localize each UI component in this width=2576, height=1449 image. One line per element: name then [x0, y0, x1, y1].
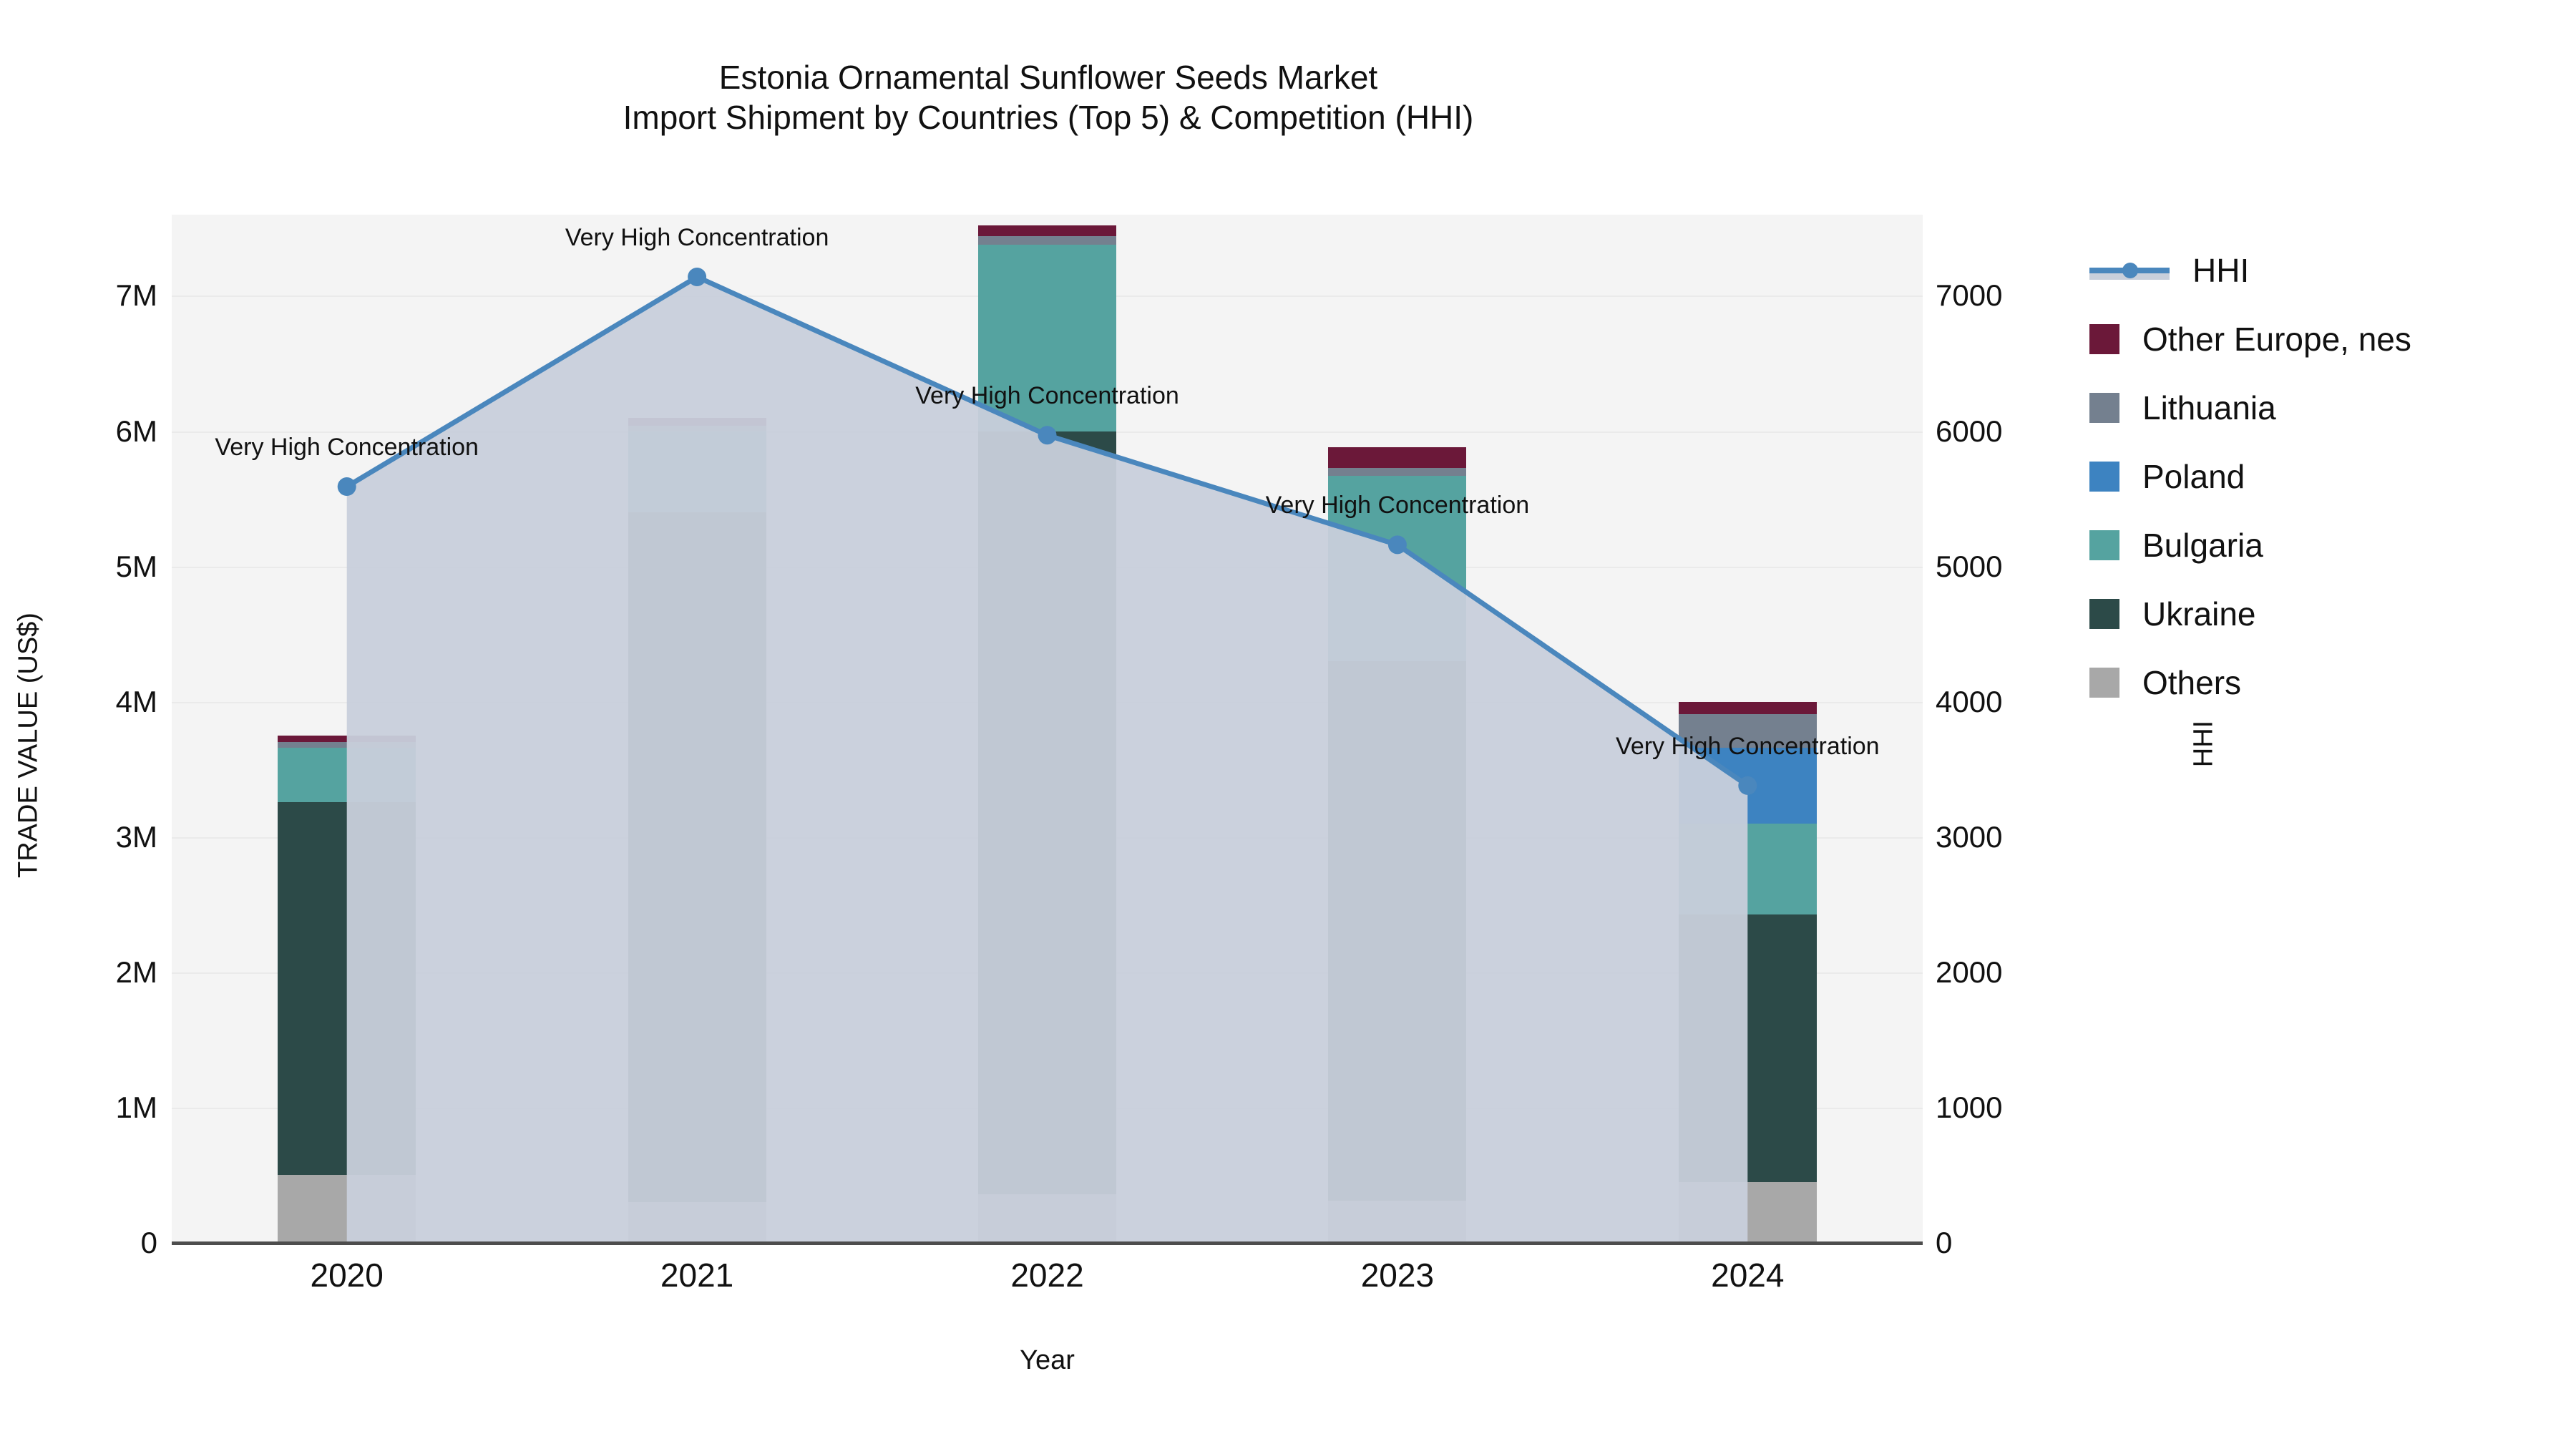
legend-swatch-icon	[2089, 324, 2119, 354]
hhi-line-overlay	[172, 215, 1923, 1243]
legend-swatch-icon	[2089, 599, 2119, 629]
legend-label: Others	[2142, 666, 2241, 699]
hhi-point-2022[interactable]	[1038, 426, 1057, 444]
legend-item-other-europe-nes[interactable]: Other Europe, nes	[2089, 305, 2562, 374]
legend-line-marker-icon	[2089, 255, 2170, 286]
y-tick-left-0: 0	[14, 1226, 157, 1260]
hhi-area-fill	[347, 277, 1748, 1243]
y-tick-right-2000: 2000	[1936, 955, 2122, 990]
hhi-point-2020[interactable]	[338, 477, 356, 496]
y-tick-right-3000: 3000	[1936, 820, 2122, 854]
legend-item-poland[interactable]: Poland	[2089, 442, 2562, 511]
x-tick-2021: 2021	[660, 1256, 733, 1294]
chart-title-line-1: Estonia Ornamental Sunflower Seeds Marke…	[0, 57, 2097, 97]
chart-title-line-2: Import Shipment by Countries (Top 5) & C…	[0, 97, 2097, 137]
legend-label: Lithuania	[2142, 391, 2276, 424]
hhi-point-2021[interactable]	[688, 268, 706, 286]
x-axis-line	[172, 1241, 1923, 1245]
annotation-2023: Very High Concentration	[1266, 492, 1530, 519]
y-tick-right-1000: 1000	[1936, 1091, 2122, 1125]
hhi-point-2024[interactable]	[1738, 776, 1757, 795]
y-axis-left-label: TRADE VALUE (US$)	[14, 316, 44, 1175]
x-tick-2023: 2023	[1361, 1256, 1434, 1294]
legend-swatch-icon	[2089, 462, 2119, 492]
y-tick-right-0: 0	[1936, 1226, 2122, 1260]
legend-label: HHI	[2192, 254, 2249, 287]
legend-label: Poland	[2142, 460, 2245, 493]
plot-area: Very High ConcentrationVery High Concent…	[172, 215, 1923, 1243]
legend-swatch-icon	[2089, 668, 2119, 698]
legend-item-bulgaria[interactable]: Bulgaria	[2089, 511, 2562, 580]
annotation-2024: Very High Concentration	[1616, 733, 1880, 761]
legend-label: Other Europe, nes	[2142, 323, 2411, 356]
legend-label: Bulgaria	[2142, 529, 2263, 562]
x-tick-2022: 2022	[1010, 1256, 1083, 1294]
hhi-point-2023[interactable]	[1388, 535, 1407, 554]
legend-item-hhi[interactable]: HHI	[2089, 236, 2562, 305]
annotation-2020: Very High Concentration	[215, 434, 479, 462]
x-axis-label: Year	[172, 1345, 1923, 1376]
legend-swatch-icon	[2089, 393, 2119, 423]
legend-item-ukraine[interactable]: Ukraine	[2089, 580, 2562, 648]
legend-item-lithuania[interactable]: Lithuania	[2089, 374, 2562, 442]
y-tick-left-7M: 7M	[14, 278, 157, 313]
legend-swatch-icon	[2089, 530, 2119, 560]
annotation-2022: Very High Concentration	[915, 382, 1179, 410]
legend-item-others[interactable]: Others	[2089, 648, 2562, 717]
legend: HHIOther Europe, nesLithuaniaPolandBulga…	[2089, 236, 2562, 717]
x-tick-2020: 2020	[311, 1256, 384, 1294]
annotation-2021: Very High Concentration	[565, 224, 829, 252]
legend-label: Ukraine	[2142, 597, 2256, 630]
x-tick-2024: 2024	[1711, 1256, 1784, 1294]
chart-title: Estonia Ornamental Sunflower Seeds Marke…	[0, 57, 2097, 137]
